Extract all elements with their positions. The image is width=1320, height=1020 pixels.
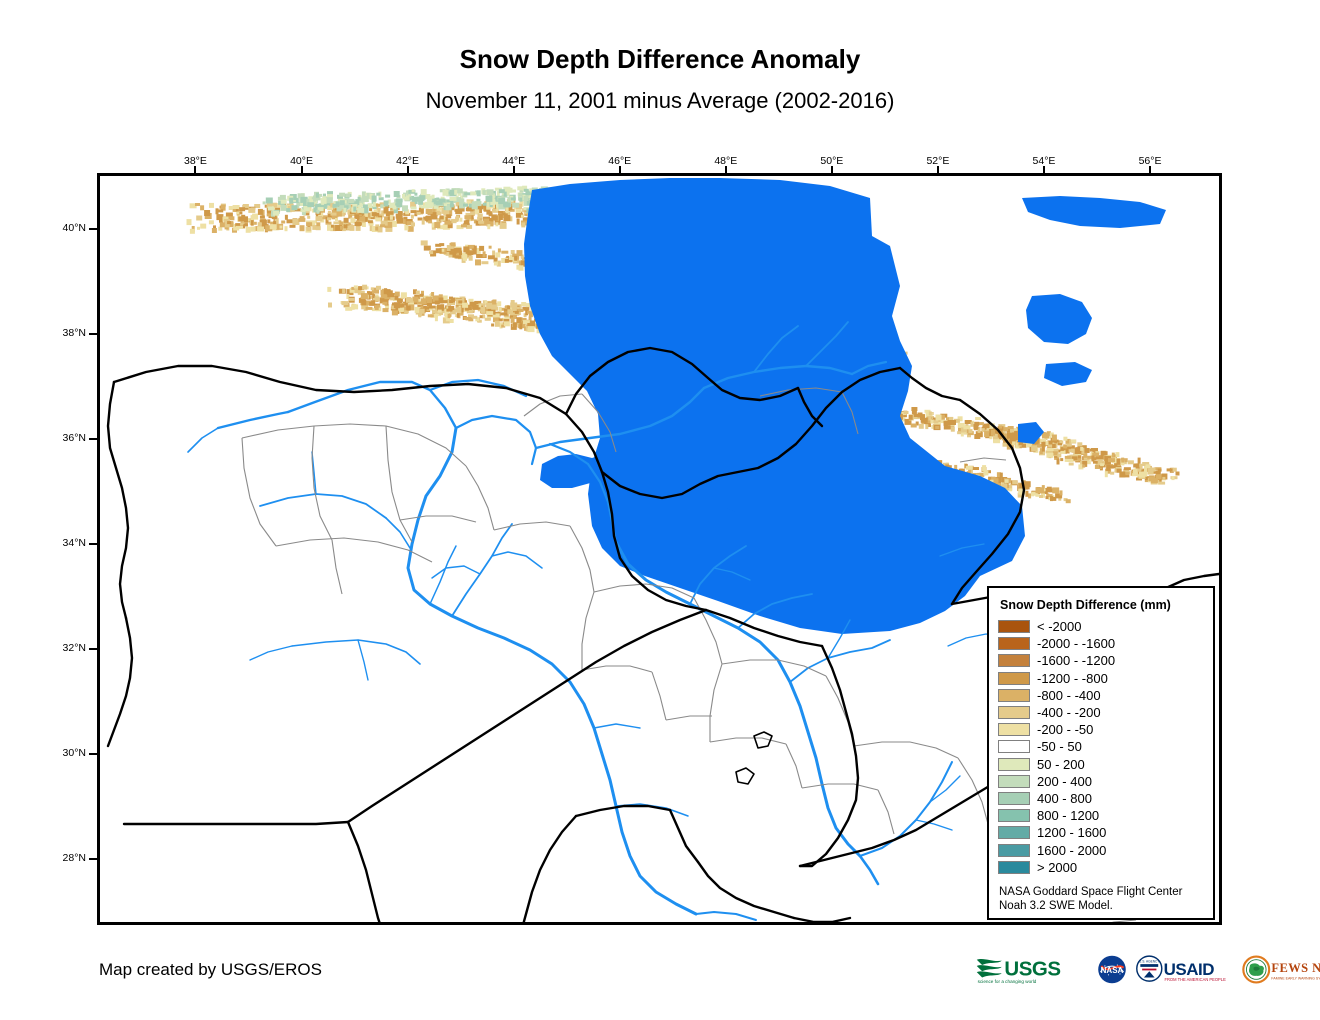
anomaly-cell (328, 303, 332, 308)
anomaly-cell (463, 204, 468, 207)
legend-swatch (998, 723, 1030, 736)
anomaly-cell (503, 215, 510, 221)
anomaly-cell (380, 204, 383, 208)
anomaly-cell (1063, 437, 1067, 441)
anomaly-cell (411, 210, 417, 213)
anomaly-cell (1053, 451, 1058, 455)
anomaly-cell (969, 429, 973, 433)
fewsnet-logo[interactable]: FEWS NET FAMINE EARLY WARNING SYSTEMS NE… (1242, 954, 1320, 985)
anomaly-cell (487, 189, 494, 195)
anomaly-cell (499, 307, 502, 312)
anomaly-cell (273, 211, 279, 216)
anomaly-cell (344, 218, 349, 223)
anomaly-cell (432, 195, 435, 199)
anomaly-cell (435, 244, 441, 247)
anomaly-cell (912, 408, 917, 414)
anomaly-cell (439, 199, 446, 203)
anomaly-cell (258, 209, 263, 215)
anomaly-cell (366, 307, 373, 310)
anomaly-cell (384, 201, 389, 207)
anomaly-cell (401, 292, 407, 298)
anomaly-cell (521, 302, 526, 306)
anomaly-cell (470, 191, 476, 195)
anomaly-cell (519, 323, 522, 329)
anomaly-cell (472, 316, 477, 319)
anomaly-cell (445, 312, 448, 318)
anomaly-cell (343, 208, 346, 213)
anomaly-cell (263, 201, 266, 204)
anomaly-cell (1008, 426, 1014, 429)
anomaly-cell (306, 227, 311, 231)
svg-text:FAMINE EARLY WARNING SYSTEMS N: FAMINE EARLY WARNING SYSTEMS NETWORK (1271, 976, 1320, 980)
anomaly-cell (422, 220, 425, 225)
anomaly-cell (528, 326, 535, 332)
anomaly-cell (420, 294, 424, 297)
svg-text:FROM THE AMERICAN PEOPLE: FROM THE AMERICAN PEOPLE (1164, 977, 1226, 982)
anomaly-cell (1012, 480, 1017, 484)
map-legend: Snow Depth Difference (mm) < -2000-2000 … (987, 586, 1215, 920)
anomaly-cell (1091, 456, 1094, 462)
anomaly-cell (375, 305, 379, 310)
anomaly-cell (290, 225, 296, 228)
page-title: Snow Depth Difference Anomaly (0, 44, 1320, 75)
anomaly-cell (1133, 469, 1137, 473)
anomaly-cell (511, 197, 516, 200)
anomaly-cell (209, 220, 214, 224)
anomaly-cell (480, 315, 483, 318)
anomaly-cell (494, 216, 498, 221)
anomaly-cell (394, 191, 400, 197)
lat-label: 34°N (26, 537, 86, 549)
anomaly-cell (289, 198, 293, 204)
legend-row: -200 - -50 (998, 721, 1204, 738)
anomaly-cell (478, 221, 484, 224)
anomaly-cell (342, 301, 349, 305)
anomaly-cell (501, 251, 508, 254)
anomaly-cell (326, 197, 333, 203)
anomaly-cell (933, 420, 938, 423)
anomaly-cell (362, 285, 367, 290)
anomaly-cell (392, 310, 398, 315)
anomaly-cell (353, 304, 356, 307)
legend-row: 400 - 800 (998, 790, 1204, 807)
anomaly-cell (281, 205, 287, 211)
legend-swatch (998, 809, 1030, 822)
anomaly-cell (1009, 488, 1012, 491)
anomaly-cell (495, 222, 498, 226)
legend-swatch (998, 758, 1030, 771)
anomaly-cell (333, 221, 339, 224)
anomaly-cell (428, 314, 434, 317)
anomaly-cell (321, 198, 327, 204)
anomaly-cell (1060, 490, 1063, 495)
anomaly-cell (444, 221, 451, 225)
anomaly-cell (1115, 452, 1119, 457)
anomaly-cell (1046, 453, 1053, 458)
svg-text:USGS: USGS (1004, 957, 1060, 980)
anomaly-cell (1128, 460, 1134, 464)
anomaly-cell (974, 422, 979, 426)
anomaly-cell (1069, 463, 1074, 466)
anomaly-cell (362, 216, 365, 222)
legend-label: -50 - 50 (1037, 740, 1082, 753)
lat-label: 38°N (26, 327, 86, 339)
anomaly-cell (417, 212, 421, 215)
anomaly-cell (493, 300, 497, 305)
anomaly-cell (1042, 446, 1045, 452)
anomaly-cell (286, 208, 290, 212)
anomaly-cell (315, 204, 321, 207)
anomaly-cell (362, 196, 369, 202)
anomaly-cell (498, 248, 501, 252)
anomaly-cell (1063, 444, 1067, 448)
anomaly-cell (1047, 448, 1054, 451)
anomaly-cell (984, 431, 989, 437)
anomaly-cell (390, 215, 393, 220)
legend-label: 50 - 200 (1037, 758, 1085, 771)
anomaly-cell (919, 424, 924, 429)
anomaly-cell (459, 218, 462, 222)
anomaly-cell (1052, 487, 1059, 493)
anomaly-cell (375, 217, 381, 221)
anomaly-cell (475, 259, 481, 265)
anomaly-cell (344, 224, 348, 228)
anomaly-cell (190, 229, 195, 234)
anomaly-cell (307, 216, 310, 219)
anomaly-cell (350, 225, 355, 231)
anomaly-cell (512, 305, 517, 311)
anomaly-cell (281, 221, 285, 224)
anomaly-cell (1003, 427, 1008, 431)
anomaly-cell (944, 427, 951, 430)
anomaly-cell (457, 188, 463, 193)
anomaly-cell (983, 470, 988, 475)
legend-note-line: Noah 3.2 SWE Model. (999, 899, 1204, 913)
anomaly-cell (487, 224, 490, 229)
anomaly-cell (426, 210, 432, 214)
anomaly-cell (400, 304, 403, 308)
legend-label: -2000 - -1600 (1037, 637, 1115, 650)
anomaly-cell (251, 227, 256, 232)
anomaly-cell (506, 207, 509, 213)
anomaly-cell (521, 222, 525, 227)
anomaly-cell (257, 227, 264, 232)
anomaly-cell (260, 216, 265, 219)
anomaly-cell (427, 303, 432, 306)
anomaly-cell (355, 222, 362, 226)
anomaly-cell (227, 221, 231, 224)
lat-label: 36°N (26, 432, 86, 444)
anomaly-cell (443, 190, 449, 196)
anomaly-cell (251, 215, 254, 220)
anomaly-cell (411, 215, 414, 219)
anomaly-cell (486, 311, 493, 315)
anomaly-cell (216, 214, 223, 220)
anomaly-cell (457, 313, 460, 318)
anomaly-cell (1167, 468, 1173, 471)
lat-tick (89, 543, 97, 545)
legend-label: 800 - 1200 (1037, 809, 1099, 822)
caspian-east-inlets (1044, 362, 1092, 386)
caspian-sea (524, 178, 1025, 634)
anomaly-cell (971, 422, 974, 427)
anomaly-cell (1148, 469, 1154, 475)
anomaly-cell (951, 427, 955, 432)
anomaly-cell (1048, 445, 1052, 448)
legend-label: < -2000 (1037, 620, 1081, 633)
anomaly-cell (411, 207, 417, 210)
anomaly-cell (1101, 454, 1104, 459)
anomaly-cell (492, 305, 497, 310)
lat-tick (89, 228, 97, 230)
anomaly-cell (1162, 477, 1165, 480)
legend-label: -800 - -400 (1037, 689, 1101, 702)
legend-swatch (998, 792, 1030, 805)
anomaly-cell (999, 426, 1002, 429)
anomaly-cell (240, 223, 243, 226)
anomaly-cell (418, 313, 421, 317)
legend-source-note: NASA Goddard Space Flight CenterNoah 3.2… (998, 885, 1204, 913)
anomaly-cell (402, 205, 408, 211)
legend-label: 1200 - 1600 (1037, 826, 1106, 839)
anomaly-cell (1067, 444, 1072, 447)
anomaly-cell (389, 203, 395, 208)
anomaly-cell (1028, 493, 1031, 498)
anomaly-cell (1057, 453, 1061, 457)
anomaly-cell (427, 298, 432, 303)
anomaly-cell (204, 210, 210, 216)
anomaly-cell (1108, 458, 1115, 462)
anomaly-cell (376, 213, 379, 216)
anomaly-cell (487, 201, 490, 207)
anomaly-cell (521, 215, 524, 218)
legend-label: -1600 - -1200 (1037, 654, 1115, 667)
lat-label: 30°N (26, 747, 86, 759)
anomaly-cell (1078, 458, 1081, 461)
anomaly-cell (197, 227, 200, 230)
anomaly-cell (285, 226, 288, 231)
anomaly-cell (511, 250, 515, 254)
anomaly-cell (957, 431, 961, 434)
legend-row: -2000 - -1600 (998, 635, 1204, 652)
anomaly-cell (1042, 432, 1049, 438)
anomaly-cell (412, 189, 415, 192)
lat-label: 32°N (26, 642, 86, 654)
lat-label: 28°N (26, 852, 86, 864)
anomaly-cell (429, 306, 436, 309)
anomaly-cell (394, 302, 400, 308)
anomaly-cell (270, 224, 277, 229)
anomaly-cell (524, 189, 529, 192)
anomaly-cell (200, 224, 206, 229)
anomaly-cell (504, 321, 510, 326)
anomaly-cell (327, 287, 331, 292)
anomaly-cell (213, 225, 216, 228)
anomaly-cell (268, 207, 274, 211)
usaid-logo[interactable]: U.S. AGENCY USAID FROM THE AMERICAN PEOP… (1135, 954, 1235, 985)
anomaly-cell (354, 285, 358, 288)
anomaly-cell (1025, 491, 1028, 497)
anomaly-cell (485, 318, 491, 321)
anomaly-cell (291, 205, 297, 210)
legend-label: 1600 - 2000 (1037, 844, 1106, 857)
anomaly-cell (1066, 499, 1071, 503)
svg-text:FEWS NET: FEWS NET (1271, 961, 1320, 975)
lat-tick (89, 858, 97, 860)
anomaly-cell (1105, 471, 1108, 477)
anomaly-cell (501, 312, 508, 315)
anomaly-cell (1133, 464, 1139, 468)
anomaly-cell (212, 228, 217, 233)
anomaly-cell (348, 298, 354, 301)
anomaly-cell (950, 420, 956, 425)
anomaly-cell (327, 191, 333, 194)
anomaly-cell (1052, 435, 1057, 441)
anomaly-cell (428, 220, 432, 223)
anomaly-cell (287, 219, 293, 223)
anomaly-cell (909, 415, 913, 420)
legend-swatch (998, 654, 1030, 667)
anomaly-cell (438, 310, 442, 313)
anomaly-cell (1176, 472, 1180, 476)
anomaly-cell (1109, 465, 1116, 468)
anomaly-cell (497, 301, 501, 306)
anomaly-cell (513, 315, 516, 319)
anomaly-cell (456, 307, 461, 313)
anomaly-cell (196, 216, 202, 221)
anomaly-cell (1031, 445, 1037, 451)
anomaly-cell (342, 289, 345, 293)
svg-text:science for a changing world: science for a changing world (978, 978, 1037, 983)
anomaly-cell (975, 417, 981, 420)
anomaly-cell (369, 302, 374, 306)
anomaly-cell (1100, 463, 1104, 466)
anomaly-cell (266, 198, 273, 204)
anomaly-cell (1060, 458, 1063, 461)
legend-row: 50 - 200 (998, 756, 1204, 773)
anomaly-cell (365, 217, 368, 222)
legend-label: 200 - 400 (1037, 775, 1092, 788)
anomaly-cell (371, 287, 374, 290)
anomaly-cell (415, 200, 418, 204)
anomaly-cell (380, 224, 385, 227)
anomaly-cell (416, 291, 420, 295)
anomaly-cell (394, 296, 398, 300)
anomaly-cell (241, 215, 245, 219)
anomaly-cell (421, 298, 427, 304)
anomaly-cell (396, 214, 403, 219)
anomaly-cell (435, 301, 440, 305)
anomaly-cell (454, 190, 457, 195)
anomaly-cell (218, 227, 222, 231)
anomaly-cell (524, 196, 529, 201)
anomaly-cell (512, 203, 519, 208)
anomaly-cell (923, 418, 928, 421)
lat-tick (89, 648, 97, 650)
legend-label: 400 - 800 (1037, 792, 1092, 805)
anomaly-cell (209, 203, 214, 208)
anomaly-cell (216, 209, 223, 212)
anomaly-cell (476, 254, 480, 258)
anomaly-cell (504, 192, 507, 197)
legend-row: -400 - -200 (998, 704, 1204, 721)
anomaly-cell (464, 215, 471, 219)
anomaly-cell (434, 216, 437, 219)
anomaly-cell (239, 211, 242, 214)
anomaly-cell (361, 293, 368, 299)
legend-swatch (998, 620, 1030, 633)
anomaly-cell (450, 319, 454, 323)
anomaly-cell (461, 224, 467, 227)
lat-tick (89, 438, 97, 440)
anomaly-cell (517, 219, 520, 225)
legend-row: 1200 - 1600 (998, 824, 1204, 841)
anomaly-cell (408, 226, 414, 232)
anomaly-cell (459, 251, 462, 255)
caspian-kara-bogaz (1026, 294, 1092, 344)
anomaly-cell (300, 225, 305, 231)
anomaly-cell (509, 257, 514, 260)
legend-swatch (998, 689, 1030, 702)
anomaly-cell (488, 255, 495, 259)
anomaly-cell (434, 222, 440, 228)
anomaly-cell (395, 292, 400, 297)
anomaly-cell (1036, 487, 1042, 493)
anomaly-cell (1112, 453, 1115, 458)
anomaly-cell (356, 226, 361, 231)
page-subtitle: November 11, 2001 minus Average (2002-20… (0, 88, 1320, 114)
anomaly-cell (486, 196, 492, 202)
legend-swatch (998, 775, 1030, 788)
anomaly-cell (347, 199, 354, 203)
anomaly-cell (375, 227, 378, 231)
anomaly-cell (429, 251, 433, 254)
anomaly-cell (504, 203, 511, 208)
anomaly-cell (436, 248, 442, 253)
map-credit: Map created by USGS/EROS (99, 960, 322, 980)
anomaly-cell (480, 307, 485, 313)
anomaly-cell (456, 216, 459, 221)
anomaly-cell (1091, 448, 1098, 451)
anomaly-cell (428, 202, 434, 206)
anomaly-cell (469, 256, 473, 261)
anomaly-cell (513, 322, 517, 327)
anomaly-cell (1172, 476, 1175, 480)
anomaly-cell (313, 196, 316, 202)
anomaly-cell (414, 193, 417, 196)
anomaly-cell (1000, 473, 1003, 478)
anomaly-cell (229, 206, 233, 210)
anomaly-cell (432, 309, 437, 313)
anomaly-cell (1065, 456, 1071, 459)
anomaly-cell (465, 220, 469, 224)
anomaly-cell (316, 226, 321, 230)
anomaly-cell (306, 222, 312, 226)
anomaly-cell (372, 196, 377, 202)
anomaly-cell (1057, 459, 1060, 465)
anomaly-cell (982, 465, 986, 471)
usgs-logo[interactable]: USGS science for a changing world (975, 954, 1089, 985)
anomaly-cell (500, 223, 507, 229)
anomaly-cell (989, 436, 992, 439)
anomaly-cell (381, 294, 387, 298)
anomaly-cell (368, 220, 373, 223)
anomaly-cell (516, 317, 521, 323)
legend-note-line: NASA Goddard Space Flight Center (999, 885, 1204, 899)
nasa-logo[interactable]: NASA (1096, 954, 1128, 985)
anomaly-cell (335, 218, 338, 221)
anomaly-cell (464, 192, 471, 195)
